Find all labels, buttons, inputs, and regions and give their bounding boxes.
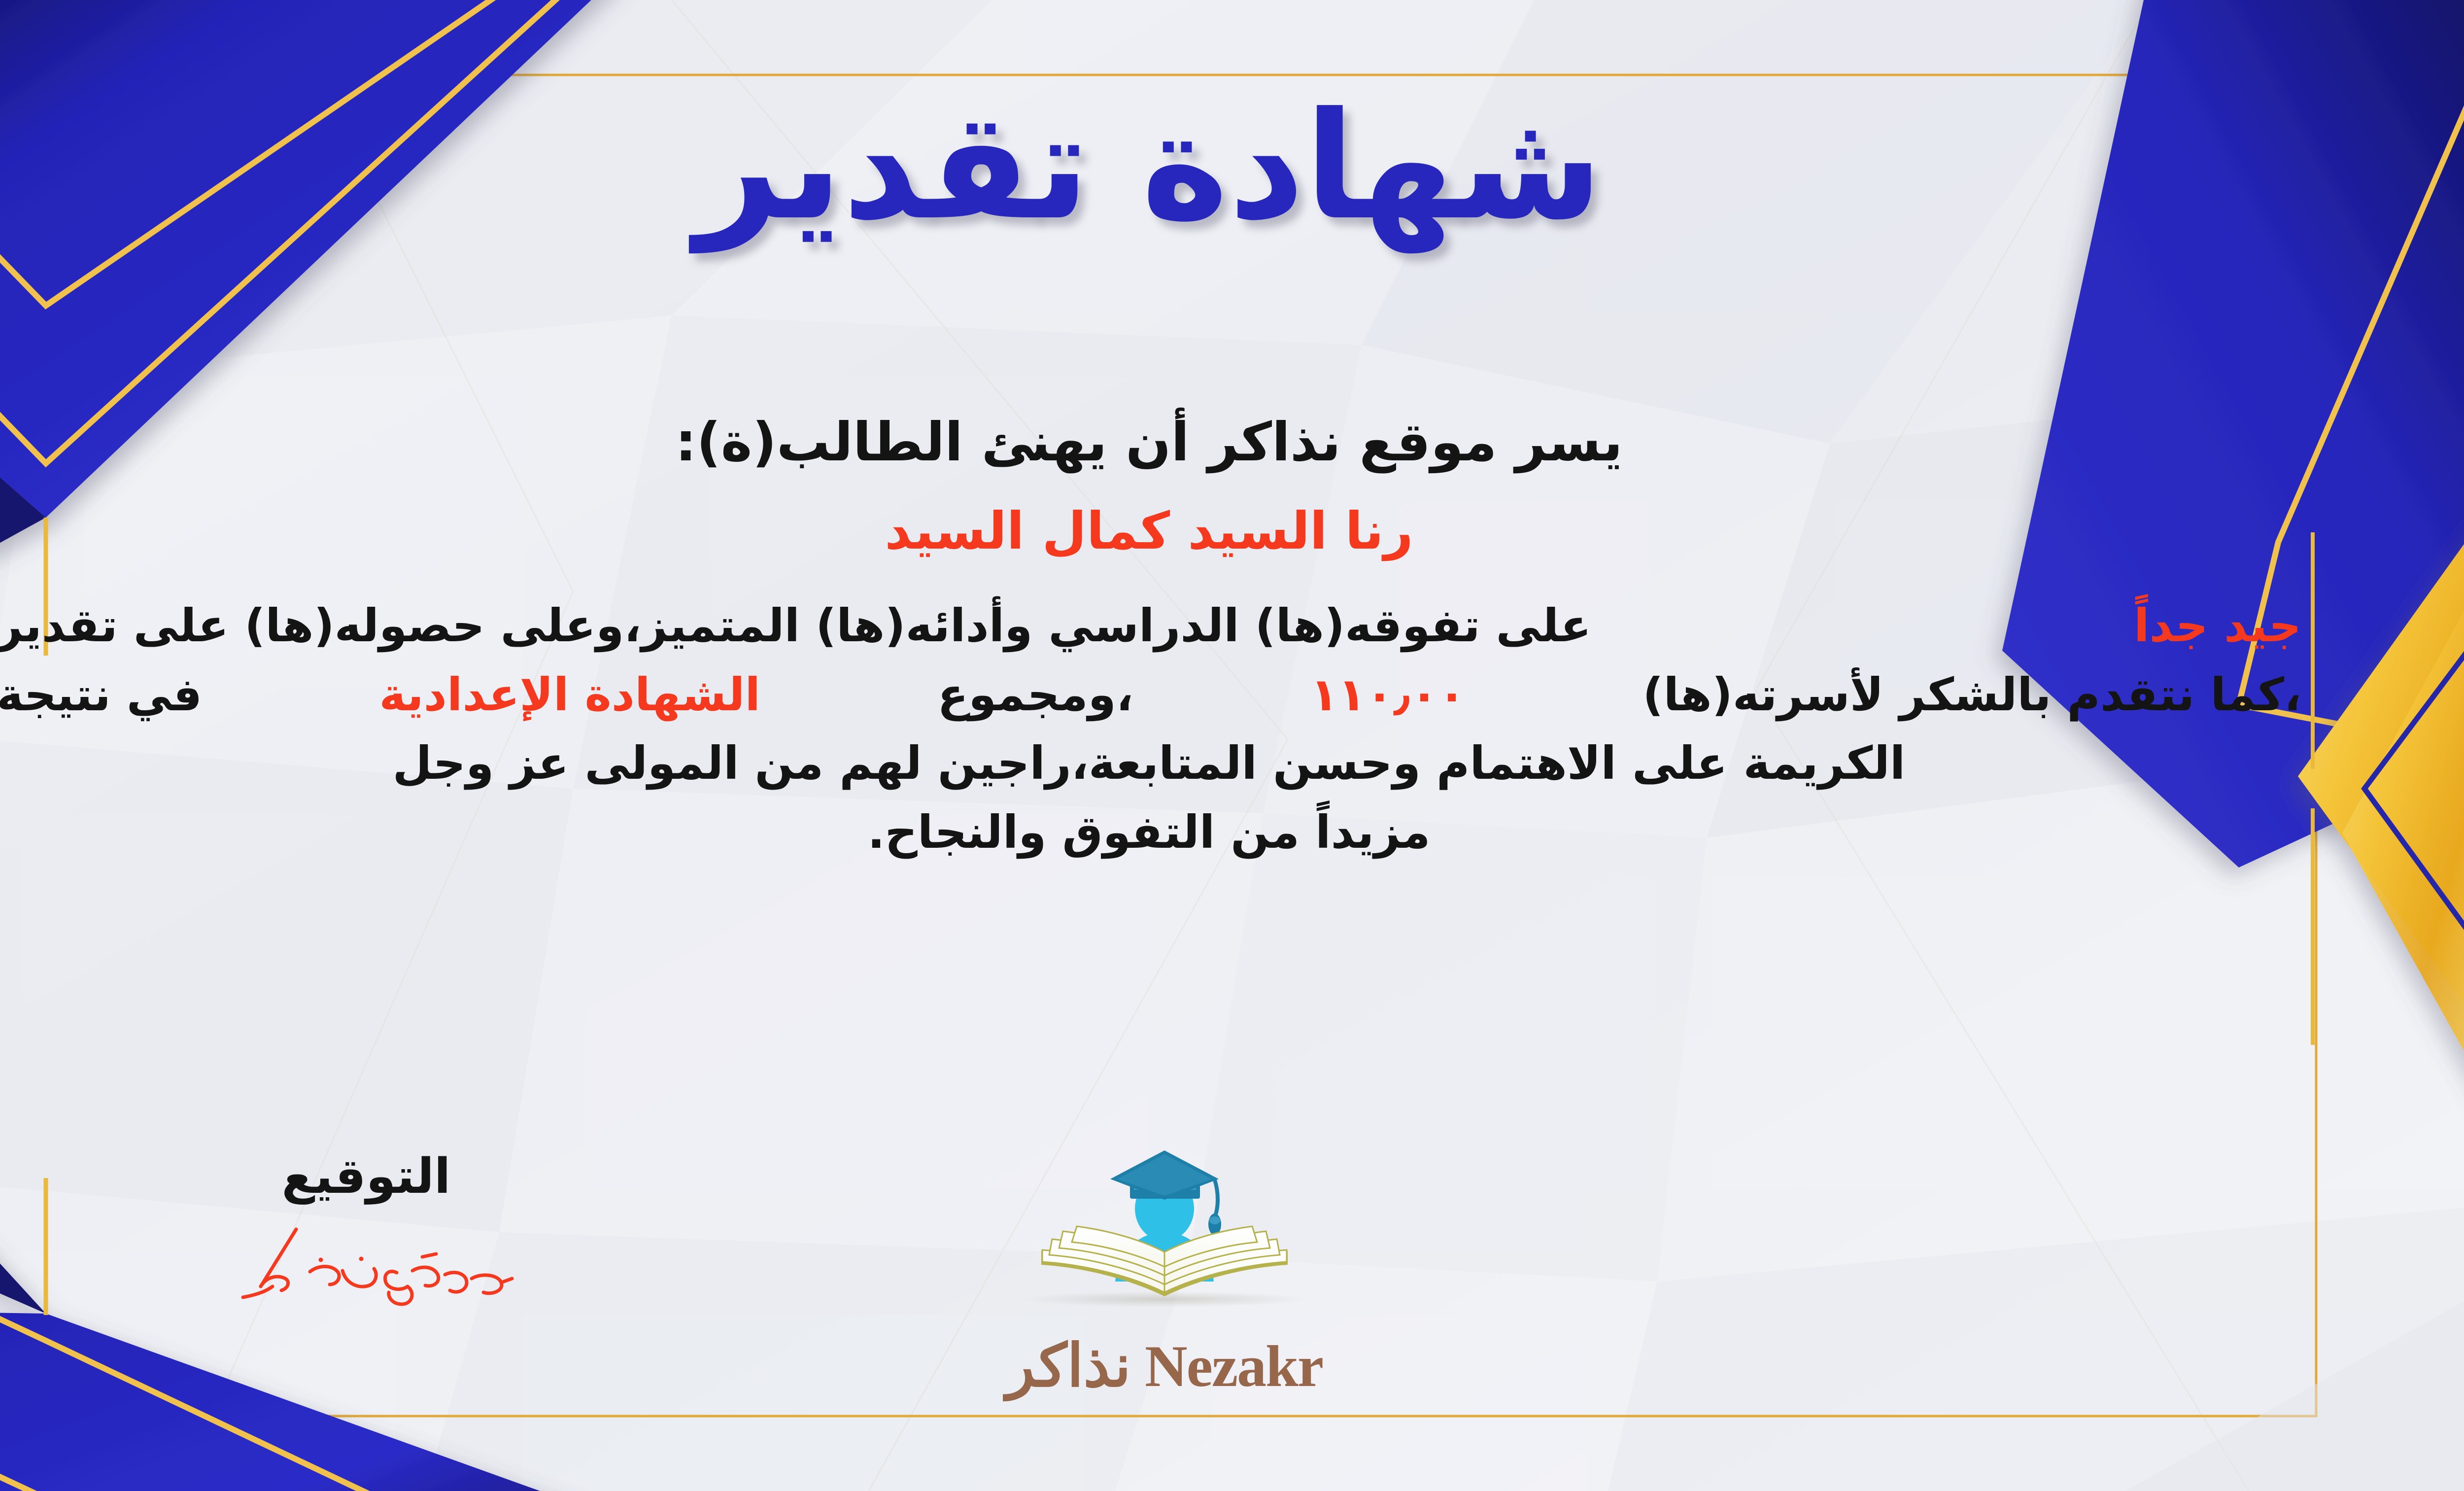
body-line-1-text: على تفوقه(ها) الدراسي وأدائه(ها) المتميز… xyxy=(0,591,1591,660)
body-line-4: مزيداً من التفوق والنجاح. xyxy=(0,798,2301,867)
certificate-body: يسر موقع نذاكر أن يهنئ الطالب(ة): رنا ال… xyxy=(0,409,2301,867)
certificate-title-area: شهادة تقدير xyxy=(0,74,2464,286)
body-line-2-tail: ،كما نتقدم بالشكر لأسرته(ها) xyxy=(1643,660,2301,729)
body-line-2-head: في نتيجة xyxy=(0,660,202,729)
brand-logo: Nezakr نذاكر xyxy=(962,1134,1367,1400)
exam-name: الشهادة الإعدادية xyxy=(379,660,760,729)
body-line-1: جيد جداً على تفوقه(ها) الدراسي وأدائه(ها… xyxy=(0,591,2301,660)
signature-mark xyxy=(208,1223,524,1307)
logo-cap-tassel xyxy=(1215,1180,1218,1217)
logo-graphic xyxy=(962,1134,1367,1341)
body-line-2-mid: ،ومجموع xyxy=(937,660,1133,729)
signature-label: التوقيع xyxy=(208,1148,524,1205)
signature-area: التوقيع xyxy=(208,1148,524,1307)
total-score: ١١٠٫٠٠ xyxy=(1310,660,1466,729)
student-name: رنا السيد كمال السيد xyxy=(0,500,2301,562)
grade-value: جيد جداً xyxy=(2134,591,2301,660)
body-line-3: الكريمة على الاهتمام وحسن المتابعة،راجين… xyxy=(0,729,2301,798)
body-line-2: ،كما نتقدم بالشكر لأسرته(ها) ١١٠٫٠٠ ،ومج… xyxy=(0,660,2301,729)
certificate-canvas: شهادة تقدير يسر موقع نذاكر أن يهنئ الطال… xyxy=(0,0,2464,1491)
logo-wordmark: Nezakr نذاكر xyxy=(962,1332,1367,1400)
body-paragraph: جيد جداً على تفوقه(ها) الدراسي وأدائه(ها… xyxy=(0,591,2301,867)
greeting-line: يسر موقع نذاكر أن يهنئ الطالب(ة): xyxy=(0,409,2301,476)
certificate-title: شهادة تقدير xyxy=(0,74,2464,259)
